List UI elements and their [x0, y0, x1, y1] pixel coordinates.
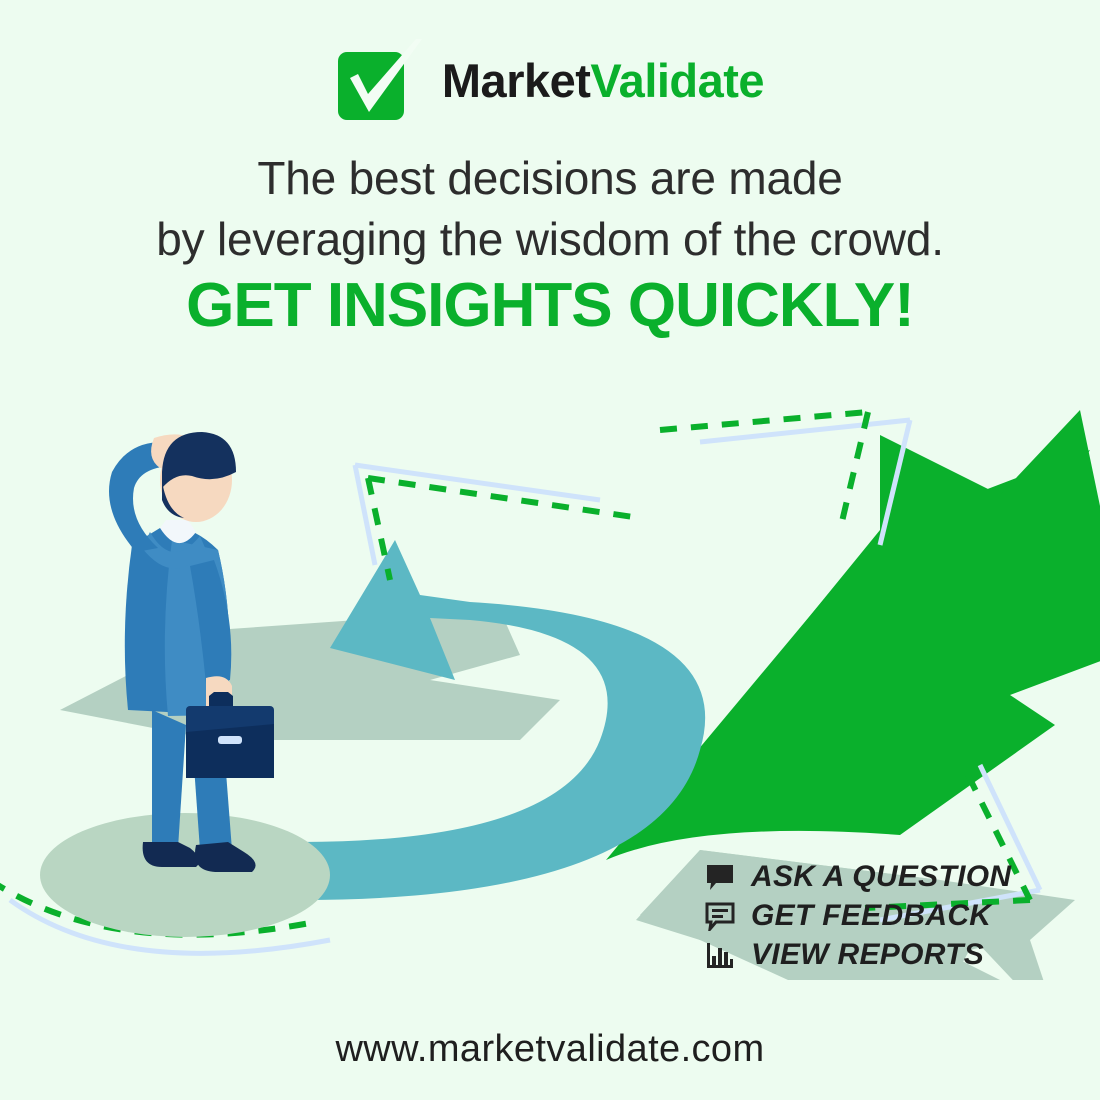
feature-item-get-feedback[interactable]: GET FEEDBACK: [705, 901, 1011, 931]
feature-label: GET FEEDBACK: [751, 901, 991, 931]
subheadline: GET INSIGHTS QUICKLY!: [0, 275, 1100, 337]
feature-list: ASK A QUESTION GET FEEDBACK VIEW REPORTS: [705, 862, 1011, 970]
brand-name-part-2: Validate: [590, 54, 764, 107]
briefcase-flap: [186, 724, 274, 778]
brand-name: MarketValidate: [442, 57, 764, 104]
feature-label: VIEW REPORTS: [751, 940, 984, 970]
feature-item-ask-a-question[interactable]: ASK A QUESTION: [705, 862, 1011, 892]
feedback-bubble-icon: [705, 901, 735, 931]
headline-line-2: by leveraging the wisdom of the crowd.: [0, 209, 1100, 270]
brand-logo[interactable]: MarketValidate: [0, 38, 1100, 122]
green-check-square-icon: [336, 38, 424, 122]
feature-item-view-reports[interactable]: VIEW REPORTS: [705, 940, 1011, 970]
brand-name-part-1: Market: [442, 54, 591, 107]
briefcase-clasp: [218, 736, 242, 744]
footer-website-url[interactable]: www.marketvalidate.com: [0, 1028, 1100, 1071]
bar-chart-icon: [705, 940, 735, 970]
headline-line-1: The best decisions are made: [0, 148, 1100, 209]
headline: The best decisions are made by leveragin…: [0, 148, 1100, 269]
ground-platform: [40, 813, 330, 937]
speech-bubble-icon: [705, 862, 735, 892]
poster-canvas: MarketValidate The best decisions are ma…: [0, 0, 1100, 1100]
feature-label: ASK A QUESTION: [751, 862, 1011, 892]
